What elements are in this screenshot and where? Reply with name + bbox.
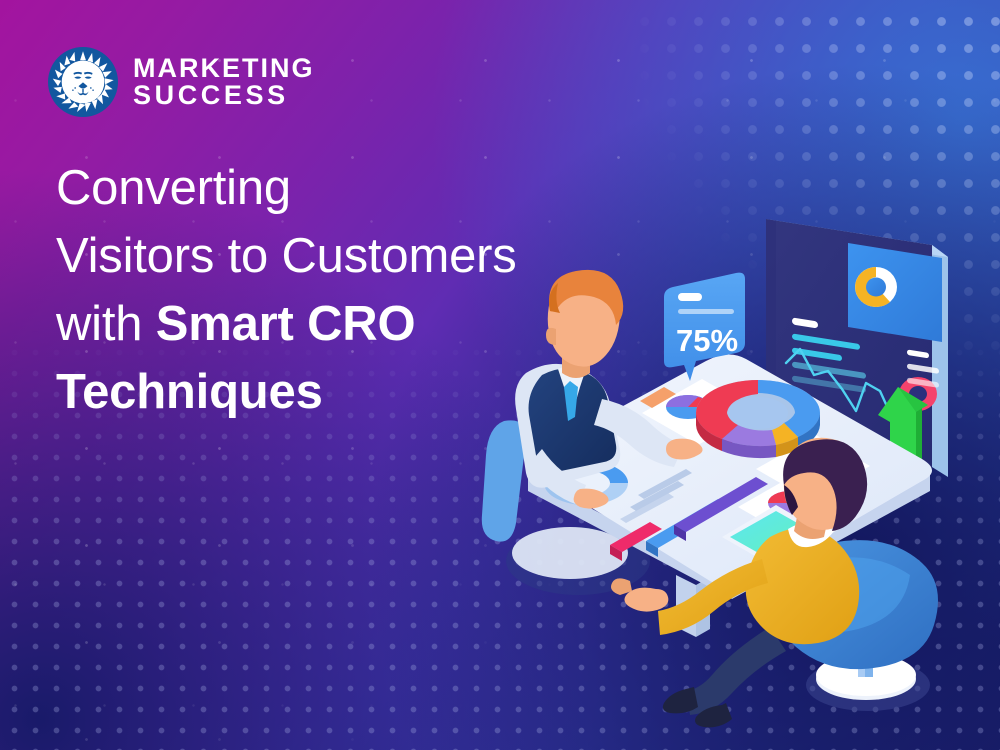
marketing-banner: MARKETING SUCCESS Converting Visitors to… (0, 0, 1000, 750)
lion-head-icon (48, 47, 118, 117)
headline-line-3-regular: with (56, 297, 156, 351)
brand-logo[interactable]: MARKETING SUCCESS (48, 47, 315, 117)
brand-wordmark: MARKETING SUCCESS (133, 55, 315, 108)
isometric-cro-analytics-scene: 75% (470, 185, 1000, 750)
headline-line-3-bold: Smart CRO (156, 297, 416, 351)
brand-name-line2: SUCCESS (133, 82, 315, 109)
brand-name-line1: MARKETING (133, 55, 315, 82)
card-donut-icon (855, 267, 897, 307)
tooltip-value: 75% (676, 323, 738, 358)
